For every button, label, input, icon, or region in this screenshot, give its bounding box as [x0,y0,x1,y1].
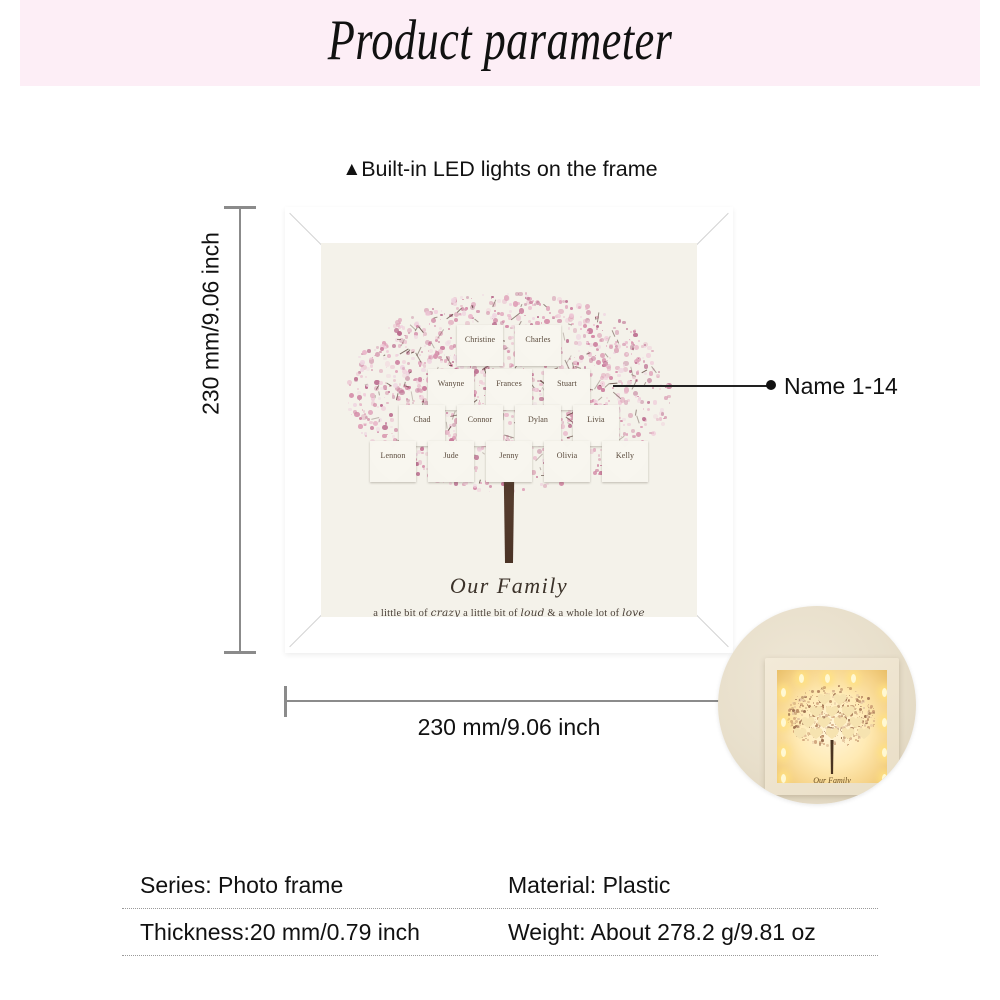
name-heart: Chad [399,405,445,446]
led-inset-title: Our Family [777,776,887,783]
tagline-love: love [622,607,645,617]
specification-table: Series: Photo frameMaterial: PlasticThic… [122,862,878,956]
name-heart: Lennon [370,441,416,482]
triangle-marker-icon: ▲ [342,159,361,180]
tagline-text-2: a little bit of [460,608,520,617]
heart-name-label: Lennon [370,451,416,482]
led-light-dot-icon [799,674,804,683]
led-light-dot-icon [882,718,887,727]
spec-cell-left: Thickness:20 mm/0.79 inch [122,919,502,946]
led-inset-glow-area: Our Family a little bit of crazy a littl… [777,670,887,783]
name-heart: Stuart [544,369,590,410]
spec-cell-left: Series: Photo frame [122,872,502,899]
heart-name-label: Olivia [544,451,590,482]
spec-cell-right: Material: Plastic [502,872,878,899]
artwork-title: Our Family [321,573,697,599]
led-on-inset-photo: Our Family a little bit of crazy a littl… [718,606,916,804]
name-heart: Dylan [515,405,561,446]
tagline-text-3: & a whole lot of [545,608,623,617]
dimension-horizontal-line [285,700,733,702]
dimension-height-label: 230 mm/9.06 inch [198,204,225,444]
dimension-width-label: 230 mm/9.06 inch [285,714,733,741]
name-heart: Jude [428,441,474,482]
heart-name-label: Kelly [602,451,648,482]
spec-row: Series: Photo frameMaterial: Plastic [122,862,878,909]
spec-row: Thickness:20 mm/0.79 inchWeight: About 2… [122,909,878,956]
callout-leader-line [613,385,771,387]
photo-frame-product-image: ChristineCharlesWanyneFrancesStuartChadC… [285,207,733,653]
name-heart: Olivia [544,441,590,482]
tagline-crazy: crazy [431,607,461,617]
family-tree-artwork: ChristineCharlesWanyneFrancesStuartChadC… [321,243,697,617]
artwork-tagline: a little bit of crazy a little bit of lo… [321,607,697,617]
callout-dot-icon [766,380,776,390]
heart-name-label: Christine [457,335,503,366]
led-light-dot-icon [825,674,830,683]
heart-name-label: Jenny [486,451,532,482]
tagline-loud: loud [521,607,545,617]
led-caption: ▲Built-in LED lights on the frame [0,157,1000,182]
led-light-dot-icon [882,688,887,697]
name-heart: Frances [486,369,532,410]
dimension-vertical-line [239,207,241,653]
led-light-dot-icon [781,718,786,727]
led-light-dot-icon [781,688,786,697]
name-heart: Wanyne [428,369,474,410]
heart-name-label: Jude [428,451,474,482]
led-caption-text: Built-in LED lights on the frame [361,157,657,181]
name-heart: Livia [573,405,619,446]
dimension-vertical-cap-bottom [224,651,256,654]
header-band: Product parameter [20,0,980,86]
name-heart: Christine [457,325,503,366]
heart-name-label: Charles [515,335,561,366]
page-title: Product parameter [126,0,875,86]
led-light-dot-icon [882,748,887,757]
callout-label: Name 1-14 [784,373,898,400]
name-heart: Charles [515,325,561,366]
name-heart: Jenny [486,441,532,482]
name-heart: Connor [457,405,503,446]
tagline-text-1: a little bit of [373,608,430,617]
led-light-dot-icon [781,748,786,757]
led-inset-frame: Our Family a little bit of crazy a littl… [765,658,899,795]
spec-cell-right: Weight: About 278.2 g/9.81 oz [502,919,878,946]
frame-mat: ChristineCharlesWanyneFrancesStuartChadC… [321,243,697,617]
name-heart: Kelly [602,441,648,482]
led-light-dot-icon [851,674,856,683]
